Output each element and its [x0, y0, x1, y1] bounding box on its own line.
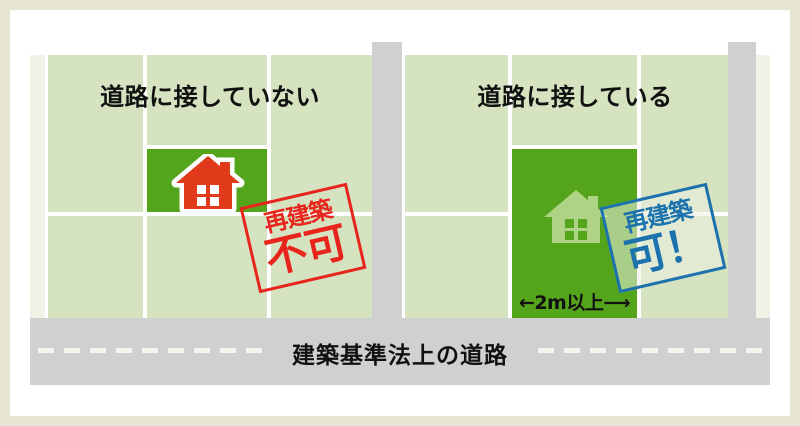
panel-title-left: 道路に接していない — [75, 77, 345, 112]
road-label: 建築基準法上の道路 — [245, 336, 555, 370]
road-vertical-right — [728, 42, 756, 340]
dimension-left-arrow: ← — [519, 292, 534, 314]
road-center-dash-right — [538, 348, 764, 353]
gutter-left — [30, 55, 45, 340]
site-map: 建築基準法上の道路 道路に接していない 道路に接している — [30, 30, 770, 385]
road-vertical-middle — [372, 42, 402, 340]
gutter-right — [755, 55, 770, 340]
house-icon-left — [170, 154, 246, 214]
diagram-canvas: 建築基準法上の道路 道路に接していない 道路に接している — [0, 0, 800, 426]
road-center-dash-left — [38, 348, 266, 353]
dimension-label: 2m以上 — [534, 292, 603, 314]
dimension-right-arrow: ⟶ — [603, 292, 630, 314]
frontage-dimension: ←2m以上⟶ — [512, 288, 637, 315]
panel-title-right: 道路に接している — [440, 77, 710, 112]
